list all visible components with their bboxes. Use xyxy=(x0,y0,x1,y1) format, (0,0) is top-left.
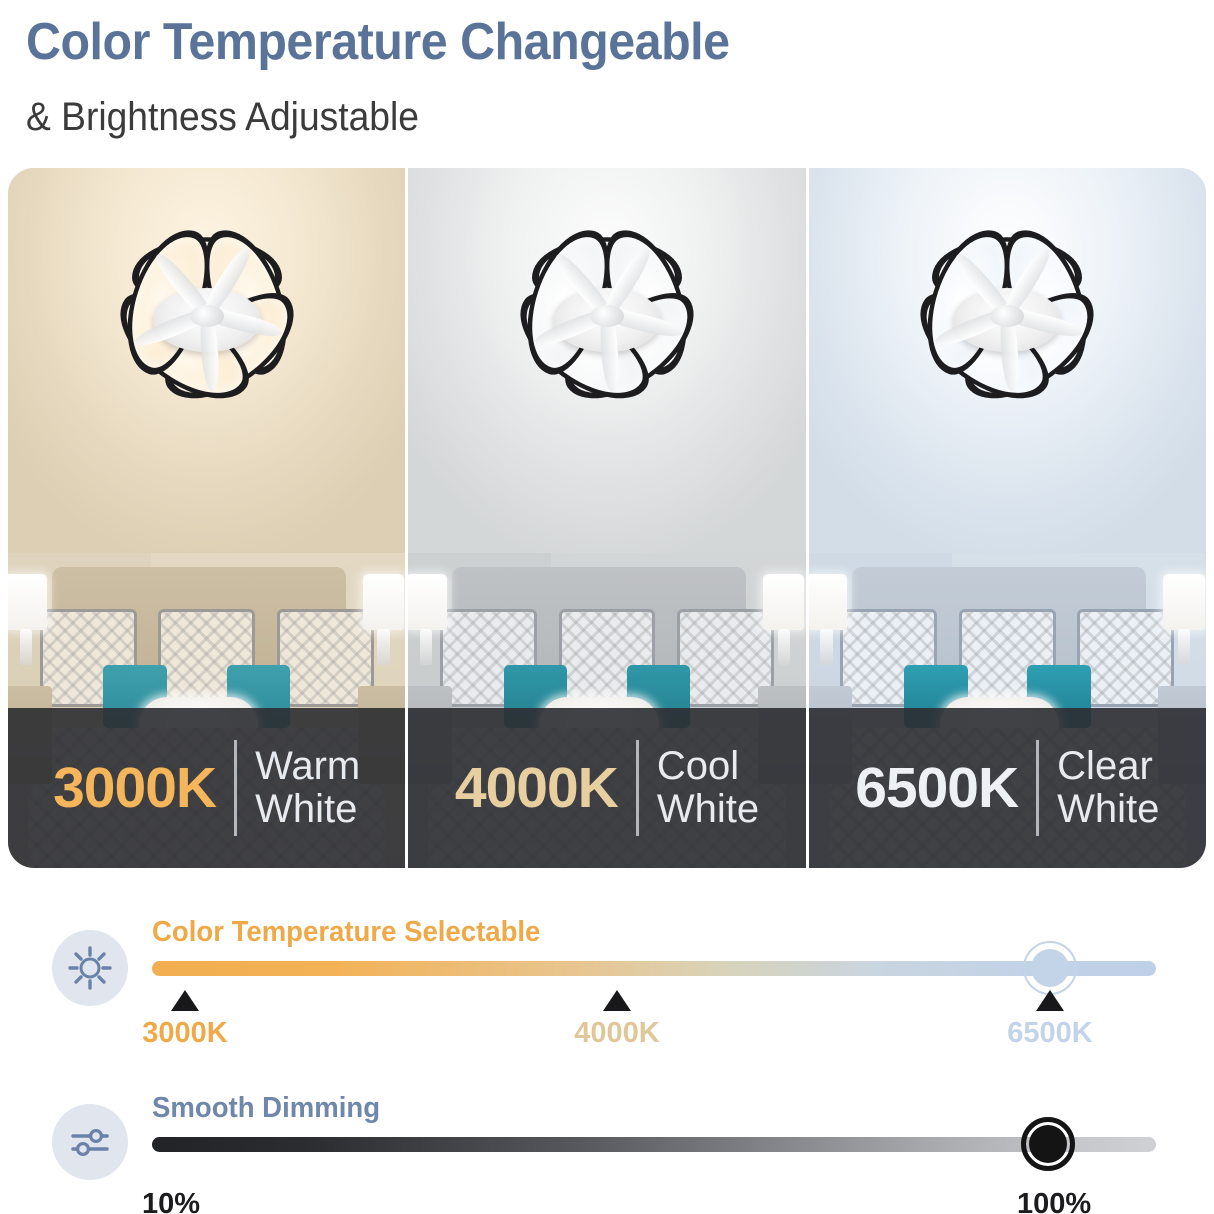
pillow-row xyxy=(40,609,374,707)
dimming-min-label: 10% xyxy=(142,1188,200,1214)
lamp-base xyxy=(20,629,32,665)
white-name-line2: White xyxy=(657,788,759,831)
lamp-shade xyxy=(406,574,447,630)
lamp-base xyxy=(778,629,790,665)
lamp-shade xyxy=(363,574,404,630)
tick-marker-4000k xyxy=(603,990,631,1011)
thumb-dot xyxy=(1029,1125,1067,1163)
caption-divider xyxy=(1036,740,1039,836)
infographic-page: Color Temperature Changeable & Brightnes… xyxy=(0,0,1214,1214)
color-temperature-track[interactable] xyxy=(152,961,1156,976)
ceiling-fan-light-fixture xyxy=(442,227,772,402)
kelvin-value: 4000K xyxy=(455,760,618,817)
kelvin-value: 6500K xyxy=(855,760,1018,817)
sliders-icon xyxy=(52,1104,128,1180)
table-lamp xyxy=(405,574,452,665)
table-lamp xyxy=(758,574,806,665)
white-name: Cool White xyxy=(657,745,759,831)
panel-cool-white: 4000K Cool White xyxy=(405,168,805,868)
lamp-base xyxy=(420,629,432,665)
page-subtitle: & Brightness Adjustable xyxy=(26,95,419,140)
ceiling xyxy=(809,168,1206,560)
thumb-dot xyxy=(1031,949,1069,987)
table-lamp xyxy=(806,574,853,665)
white-name-line1: Clear xyxy=(1057,745,1159,788)
lamp-shade xyxy=(1163,574,1204,630)
color-temperature-label: Color Temperature Selectable xyxy=(152,916,540,949)
pillow-row xyxy=(840,609,1174,707)
lamp-base xyxy=(377,629,389,665)
lamp-shade xyxy=(8,574,47,630)
fan-center-cap xyxy=(990,305,1024,327)
lamp-base xyxy=(1178,629,1190,665)
white-name-line1: Cool xyxy=(657,745,759,788)
ceiling xyxy=(8,168,405,560)
tick-label-6500k: 6500K xyxy=(1007,1017,1092,1050)
tick-label-3000k: 3000K xyxy=(142,1017,227,1050)
tick-label-4000k: 4000K xyxy=(574,1017,659,1050)
page-title: Color Temperature Changeable xyxy=(26,12,730,72)
kelvin-value: 3000K xyxy=(53,760,216,817)
table-lamp xyxy=(358,574,406,665)
caption-band-warm: 3000K Warm White xyxy=(8,708,405,868)
white-name: Clear White xyxy=(1057,745,1159,831)
ceiling-fan-light-fixture xyxy=(842,227,1172,402)
dimming-label: Smooth Dimming xyxy=(152,1092,380,1125)
tick-marker-6500k xyxy=(1036,990,1064,1011)
dimming-max-label: 100% xyxy=(1017,1188,1091,1214)
white-name: Warm White xyxy=(255,745,360,831)
table-lamp xyxy=(8,574,52,665)
lamp-shade xyxy=(763,574,804,630)
table-lamp xyxy=(1158,574,1206,665)
tick-marker-3000k xyxy=(171,990,199,1011)
caption-divider xyxy=(636,740,639,836)
fan-center-cap xyxy=(190,305,224,327)
sun-icon xyxy=(52,930,128,1006)
fan-center-cap xyxy=(590,305,624,327)
color-temperature-comparison: 3000K Warm White xyxy=(8,168,1206,868)
lamp-shade xyxy=(806,574,847,630)
white-name-line2: White xyxy=(255,788,360,831)
caption-band-cool: 4000K Cool White xyxy=(408,708,805,868)
caption-divider xyxy=(234,740,237,836)
caption-band-clear: 6500K Clear White xyxy=(809,708,1206,868)
panel-warm-white: 3000K Warm White xyxy=(8,168,405,868)
white-name-line1: Warm xyxy=(255,745,360,788)
lamp-base xyxy=(820,629,832,665)
ceiling xyxy=(408,168,805,560)
panel-clear-white: 6500K Clear White xyxy=(806,168,1206,868)
pillow-row xyxy=(440,609,774,707)
white-name-line2: White xyxy=(1057,788,1159,831)
ceiling-fan-light-fixture xyxy=(42,227,372,402)
dimming-track[interactable] xyxy=(152,1137,1156,1152)
